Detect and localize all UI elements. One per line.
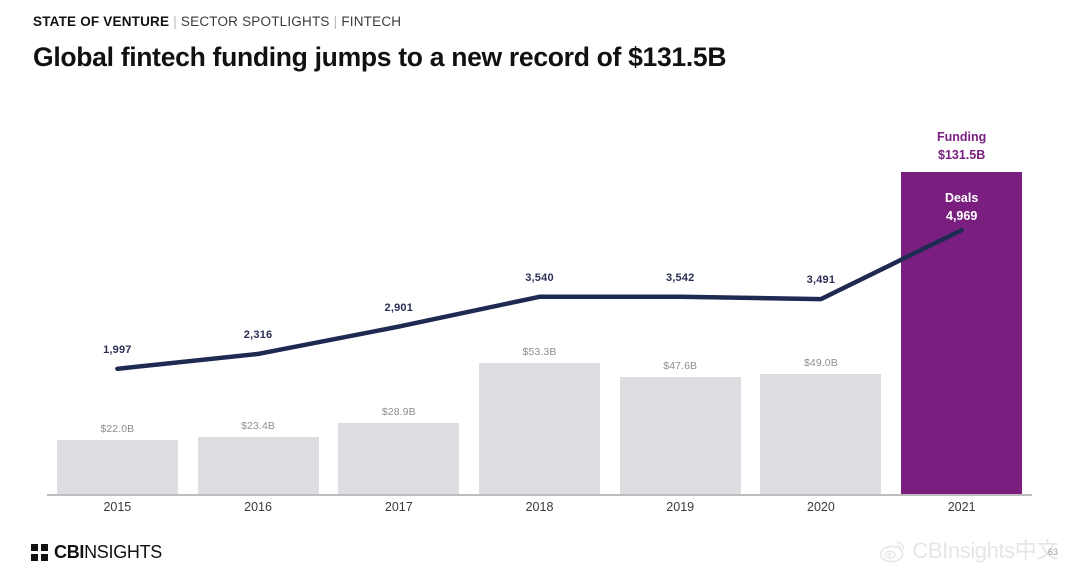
x-axis-label-2016: 2016	[198, 500, 319, 514]
deals-label-2017: 2,901	[364, 302, 434, 314]
breadcrumb-item-sector-spotlights[interactable]: SECTOR SPOTLIGHTS	[181, 14, 330, 29]
breadcrumb-separator: |	[330, 14, 342, 29]
x-axis-label-2018: 2018	[479, 500, 600, 514]
breadcrumb-item-state-of-venture[interactable]: STATE OF VENTURE	[33, 14, 169, 29]
page-number: 63	[1048, 547, 1058, 557]
deals-label-2015: 1,997	[82, 344, 152, 356]
weibo-watermark: CBInsights中文	[879, 536, 1058, 566]
x-axis-label-2021: 2021	[901, 500, 1022, 514]
breadcrumb-separator: |	[169, 14, 181, 29]
x-axis-label-2015: 2015	[57, 500, 178, 514]
deals-line-series	[47, 100, 1032, 496]
cbinsights-logo: CBINSIGHTS	[31, 542, 162, 562]
weibo-icon	[879, 538, 906, 565]
deals-label-2018: 3,540	[505, 272, 575, 284]
deals-label-2016: 2,316	[223, 329, 293, 341]
deals-label-2019: 3,542	[645, 272, 715, 284]
deals-line-path	[117, 230, 961, 369]
x-axis-labels: 2015201620172018201920202021	[47, 500, 1032, 522]
page-footer: CBINSIGHTS CBInsights中文 63	[0, 528, 1080, 574]
x-axis-label-2017: 2017	[338, 500, 459, 514]
footer-divider	[0, 528, 1080, 529]
deals-label-2020: 3,491	[786, 274, 856, 286]
breadcrumb: STATE OF VENTURE|SECTOR SPOTLIGHTS|FINTE…	[33, 14, 1033, 30]
cbinsights-logo-text: CBINSIGHTS	[54, 543, 162, 561]
page-header: STATE OF VENTURE|SECTOR SPOTLIGHTS|FINTE…	[33, 14, 1033, 73]
watermark-text: CBInsights中文	[912, 539, 1058, 563]
logo-text-bold: CBI	[54, 542, 84, 562]
cbinsights-logo-icon	[31, 544, 48, 561]
x-axis-label-2020: 2020	[760, 500, 881, 514]
breadcrumb-item-fintech[interactable]: FINTECH	[341, 14, 401, 29]
x-axis-label-2019: 2019	[620, 500, 741, 514]
chart-plot-area: $22.0B$23.4B$28.9B$53.3B$47.6B$49.0BFund…	[47, 100, 1032, 496]
page-title: Global fintech funding jumps to a new re…	[33, 41, 1033, 73]
funding-deals-chart: $22.0B$23.4B$28.9B$53.3B$47.6B$49.0BFund…	[0, 100, 1080, 520]
logo-text-light: NSIGHTS	[84, 542, 162, 562]
